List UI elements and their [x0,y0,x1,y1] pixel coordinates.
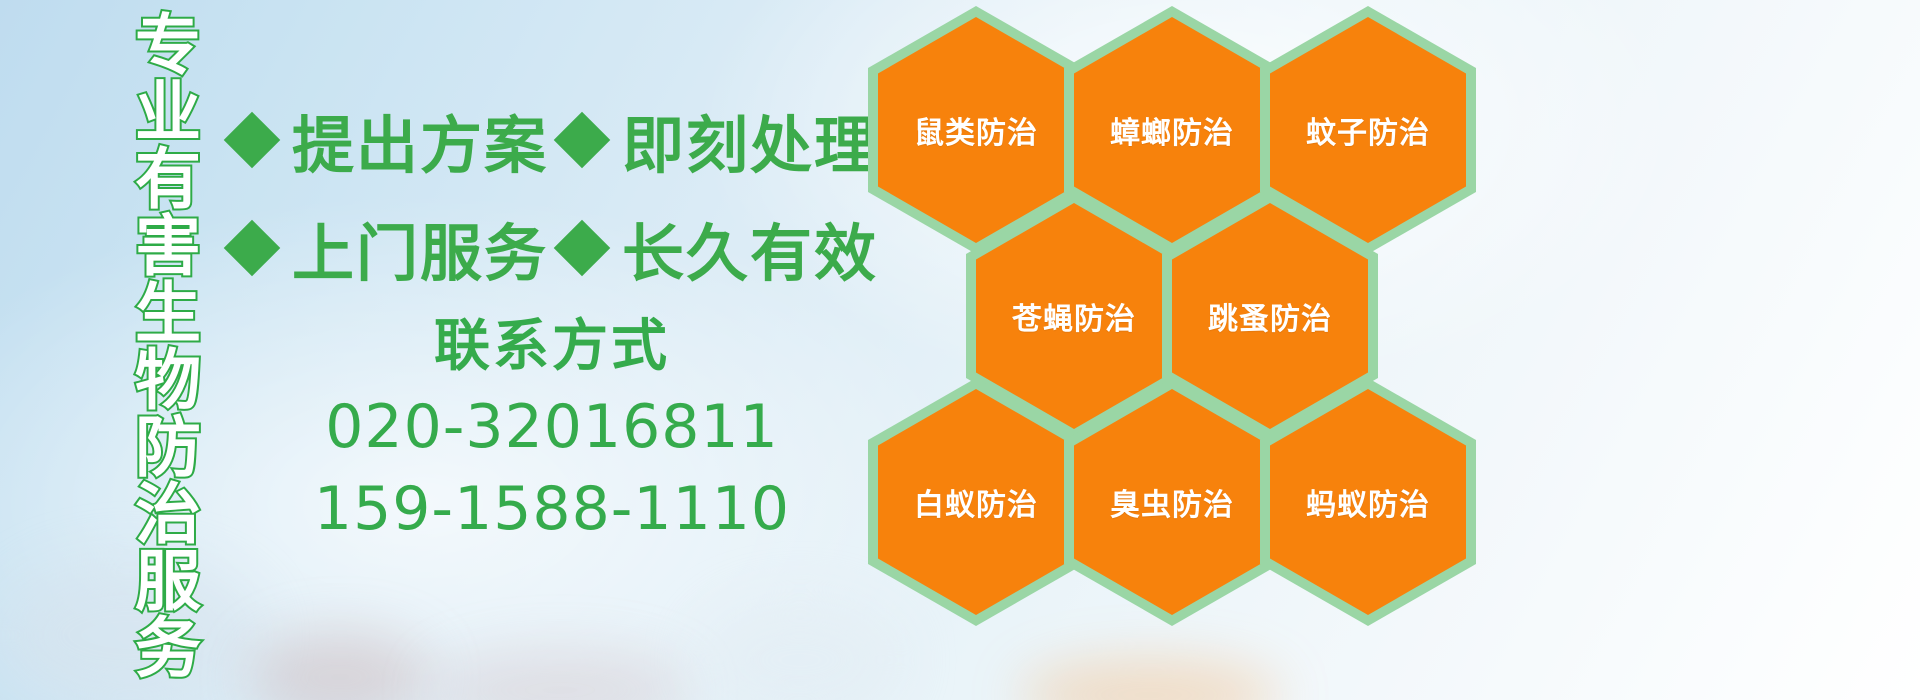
feature-label: 上门服务 [292,203,548,293]
service-hex-label: 苍蝇防治 [1012,294,1136,338]
feature-label: 提出方案 [292,95,548,185]
service-hex-label: 臭虫防治 [1110,480,1234,524]
vertical-headline-char: 防 [135,414,201,481]
feature-row: 上门服务 长久有效 [232,194,872,302]
vertical-headline-char: 害 [135,213,201,280]
background-blur-blob [430,650,690,700]
vertical-headline-char: 服 [135,548,201,615]
vertical-headline-char: 生 [135,280,201,347]
service-honeycomb: 鼠类防治 蟑螂防治 蚊子防治 苍蝇防治 跳蚤防治 白蚁防治 [860,0,1560,700]
vertical-headline-char: 有 [135,146,201,213]
diamond-bullet-icon [224,112,281,169]
contact-phone-mobile[interactable]: 159-1588-1110 [232,468,872,550]
service-hex-label: 鼠类防治 [914,108,1038,152]
vertical-headline-char: 专 [135,12,201,79]
vertical-headline-char: 物 [135,347,201,414]
background-blur-blob [250,632,430,700]
diamond-bullet-icon [554,112,611,169]
service-hex-inner: 臭虫防治 [1074,389,1270,615]
diamond-bullet-icon [554,220,611,277]
service-hex-label: 跳蚤防治 [1208,294,1332,338]
service-hex-inner: 蚂蚁防治 [1270,389,1466,615]
service-hex-label: 白蚁防治 [914,480,1038,524]
vertical-headline: 专 业 有 害 生 物 防 治 服 务 [112,12,224,688]
vertical-headline-char: 治 [135,481,201,548]
contact-phone-landline[interactable]: 020-32016811 [232,386,872,468]
service-hex-label: 蚊子防治 [1306,108,1430,152]
vertical-headline-char: 业 [135,79,201,146]
contact-title: 联系方式 [232,308,872,386]
feature-row: 提出方案 即刻处理 [232,86,872,194]
service-hex-inner: 白蚁防治 [878,389,1074,615]
feature-label: 长久有效 [622,203,878,293]
feature-list: 提出方案 即刻处理 上门服务 长久有效 [232,86,872,302]
vertical-headline-char: 务 [135,615,201,682]
service-hex-label: 蟑螂防治 [1110,108,1234,152]
service-hex-label: 蚂蚁防治 [1306,480,1430,524]
feature-label: 即刻处理 [622,95,878,185]
pest-control-service-banner: 专 业 有 害 生 物 防 治 服 务 提出方案 即刻处理 上门服务 长久有效 … [0,0,1920,700]
contact-block: 联系方式 020-32016811 159-1588-1110 [232,308,872,550]
diamond-bullet-icon [224,220,281,277]
